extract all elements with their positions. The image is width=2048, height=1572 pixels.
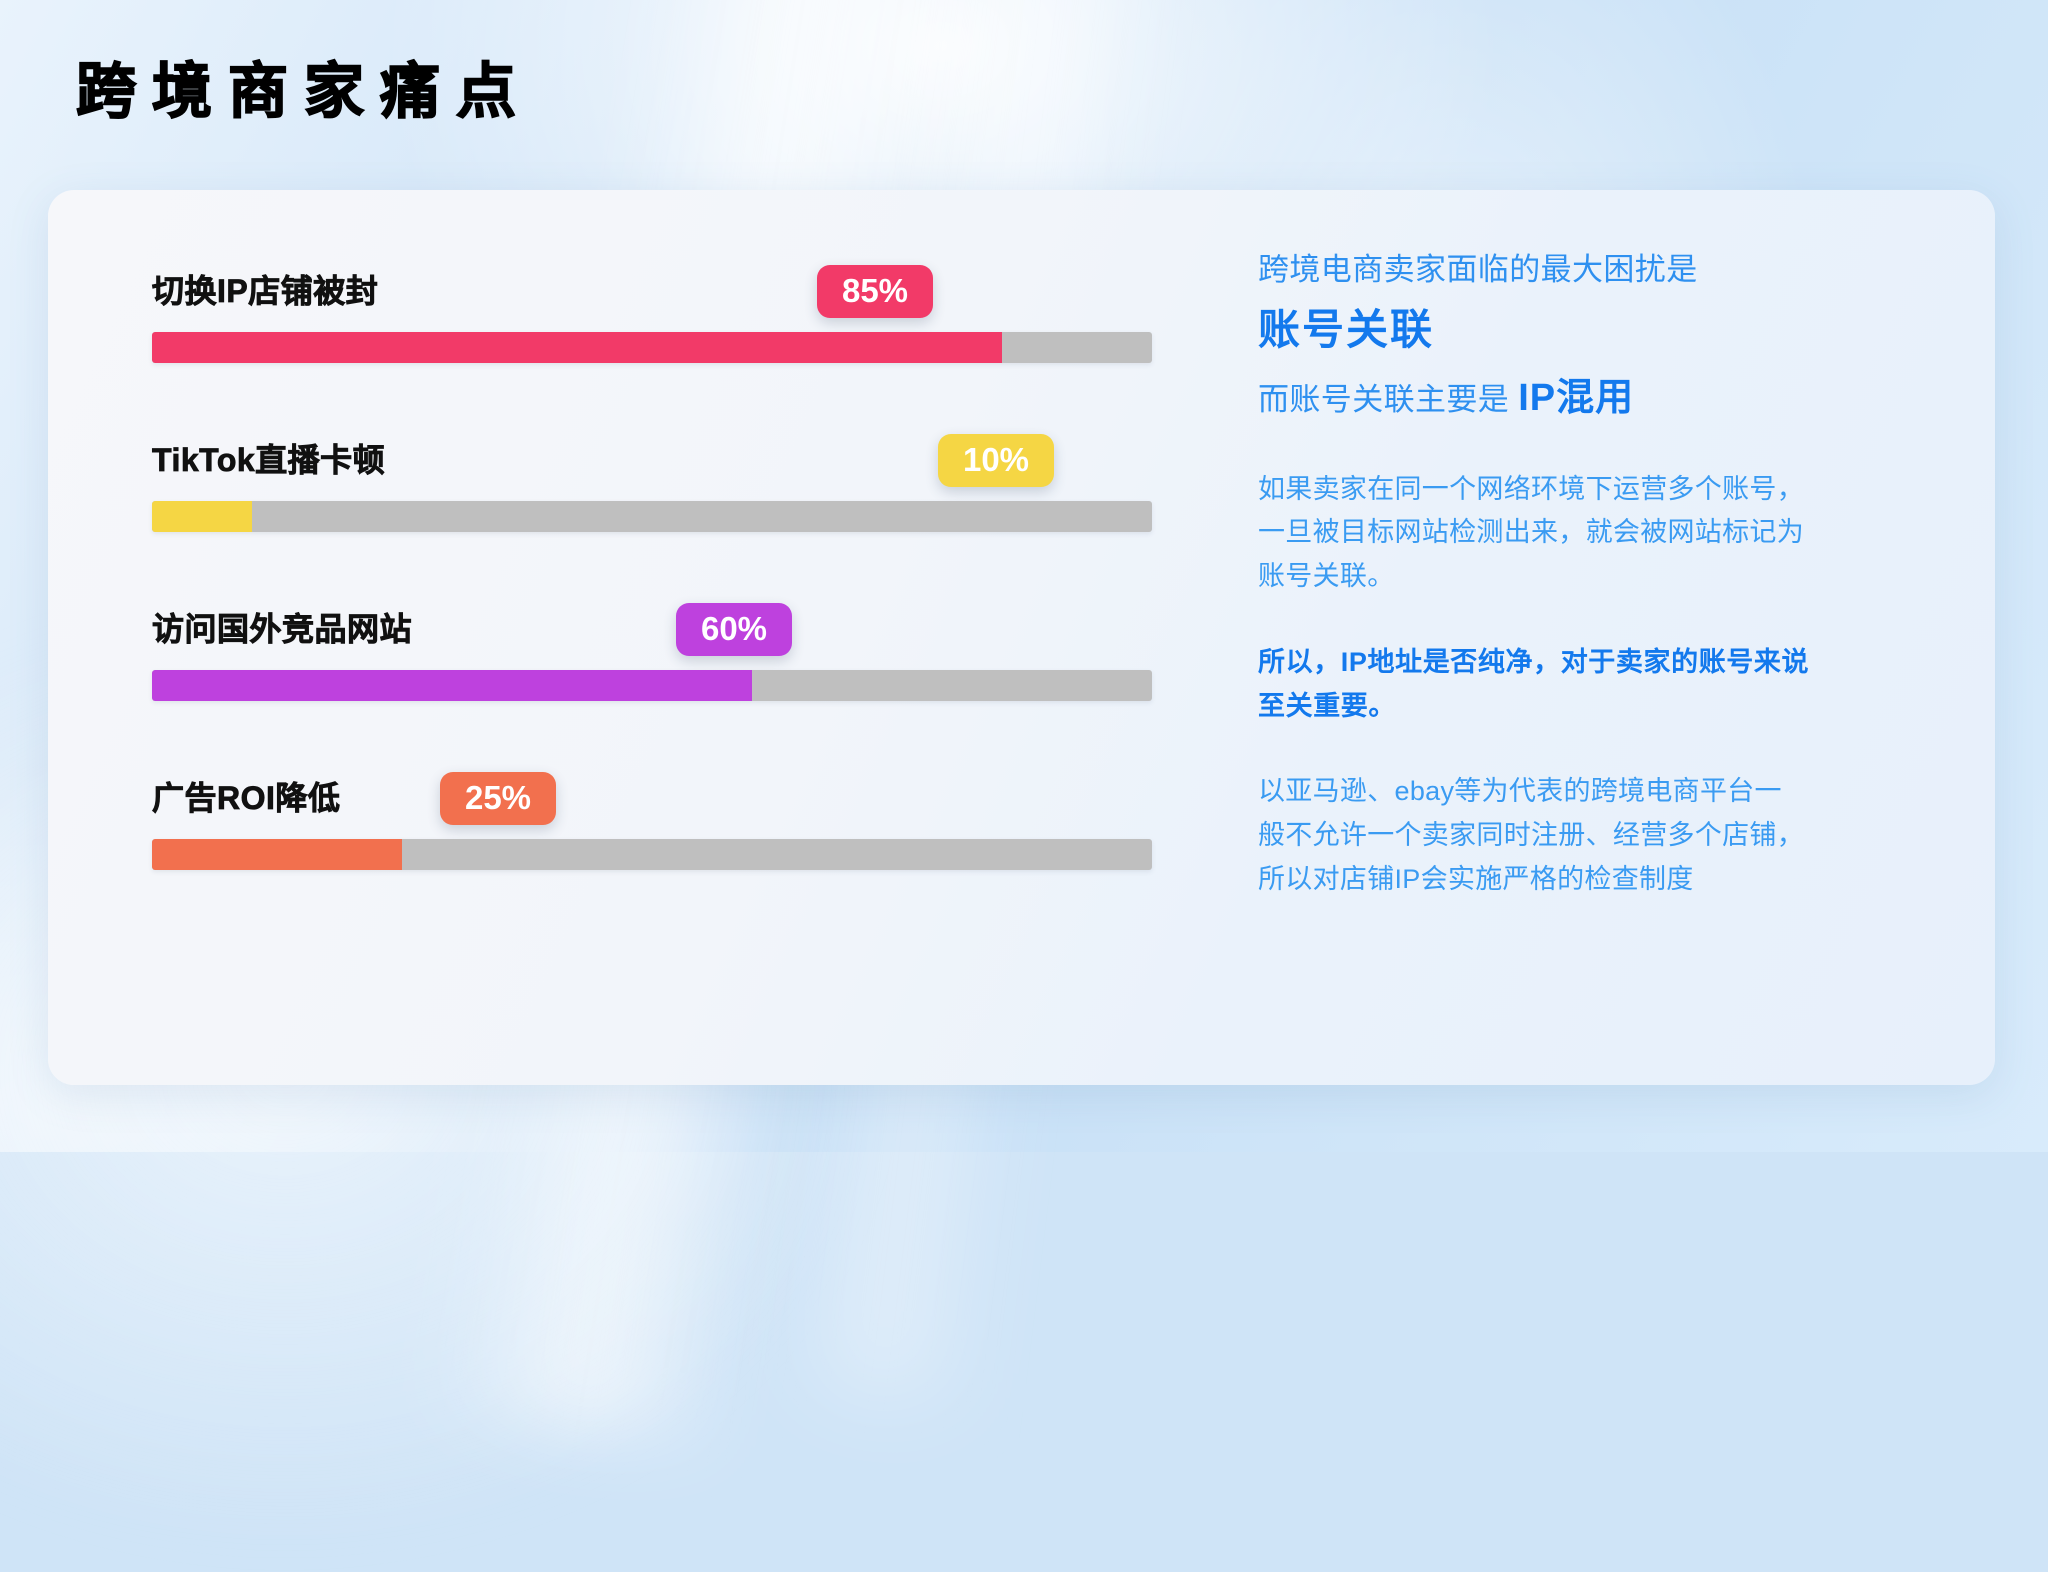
paragraph-line: 如果卖家在同一个网络环境下运营多个账号， xyxy=(1258,468,1943,512)
bar-header: 广告ROI降低 25% xyxy=(108,757,1108,819)
bar-value-badge: 60% xyxy=(676,603,792,656)
lead-headline: 账号关联 xyxy=(1258,300,1943,360)
paragraph-ip-purity: 所以，IP地址是否纯净，对于卖家的账号来说 至关重要。 xyxy=(1258,641,1943,728)
bar-fill xyxy=(152,332,1002,363)
page-title: 跨境商家痛点 xyxy=(76,62,532,122)
bar-fill xyxy=(152,839,402,870)
bar-track xyxy=(152,332,1152,363)
bar-label: 访问国外竞品网站 xyxy=(152,604,412,650)
paragraph-line: 一旦被目标网站检测出来，就会被网站标记为 xyxy=(1258,511,1943,555)
bar-fill xyxy=(152,501,252,532)
bar-label: 广告ROI降低 xyxy=(152,773,340,819)
bar-group: 切换IP店铺被封 85% xyxy=(108,250,1108,363)
bar-value-badge: 10% xyxy=(938,434,1054,487)
paragraph-line: 以亚马逊、ebay等为代表的跨境电商平台一 xyxy=(1258,770,1943,814)
lead-subline-accent: IP混用 xyxy=(1518,377,1634,419)
lead-line: 跨境电商卖家面临的最大困扰是 xyxy=(1258,248,1943,292)
bar-label: 切换IP店铺被封 xyxy=(152,266,378,312)
bar-value-badge: 85% xyxy=(817,265,933,318)
paragraph-line: 般不允许一个卖家同时注册、经营多个店铺， xyxy=(1258,814,1943,858)
paragraph-account-association: 如果卖家在同一个网络环境下运营多个账号， 一旦被目标网站检测出来，就会被网站标记… xyxy=(1258,468,1943,599)
paragraph-line: 所以对店铺IP会实施严格的检查制度 xyxy=(1258,858,1943,902)
paragraph-line: 所以，IP地址是否纯净，对于卖家的账号来说 xyxy=(1258,641,1943,685)
lead-subline-prefix: 而账号关联主要是 xyxy=(1258,382,1518,417)
bar-header: 访问国外竞品网站 60% xyxy=(108,588,1108,650)
explanation-text-panel: 跨境电商卖家面临的最大困扰是 账号关联 而账号关联主要是 IP混用 如果卖家在同… xyxy=(1198,190,1995,1085)
paragraph-line: 账号关联。 xyxy=(1258,555,1943,599)
bar-group: 访问国外竞品网站 60% xyxy=(108,588,1108,701)
bar-value-badge: 25% xyxy=(440,772,556,825)
paragraph-line: 至关重要。 xyxy=(1258,685,1943,729)
bar-track xyxy=(152,839,1152,870)
bar-track xyxy=(152,670,1152,701)
bar-label: TikTok直播卡顿 xyxy=(152,435,385,481)
content-card: 切换IP店铺被封 85% TikTok直播卡顿 10% 访问国外竞品网站 60% xyxy=(48,190,1995,1085)
lead-subline: 而账号关联主要是 IP混用 xyxy=(1258,372,1943,426)
bar-header: TikTok直播卡顿 10% xyxy=(108,419,1108,481)
bar-group: 广告ROI降低 25% xyxy=(108,757,1108,870)
bar-header: 切换IP店铺被封 85% xyxy=(108,250,1108,312)
bar-group: TikTok直播卡顿 10% xyxy=(108,419,1108,532)
pain-point-bar-chart: 切换IP店铺被封 85% TikTok直播卡顿 10% 访问国外竞品网站 60% xyxy=(48,190,1198,1085)
bar-track xyxy=(152,501,1152,532)
paragraph-platform-policy: 以亚马逊、ebay等为代表的跨境电商平台一 般不允许一个卖家同时注册、经营多个店… xyxy=(1258,770,1943,901)
bar-fill xyxy=(152,670,752,701)
